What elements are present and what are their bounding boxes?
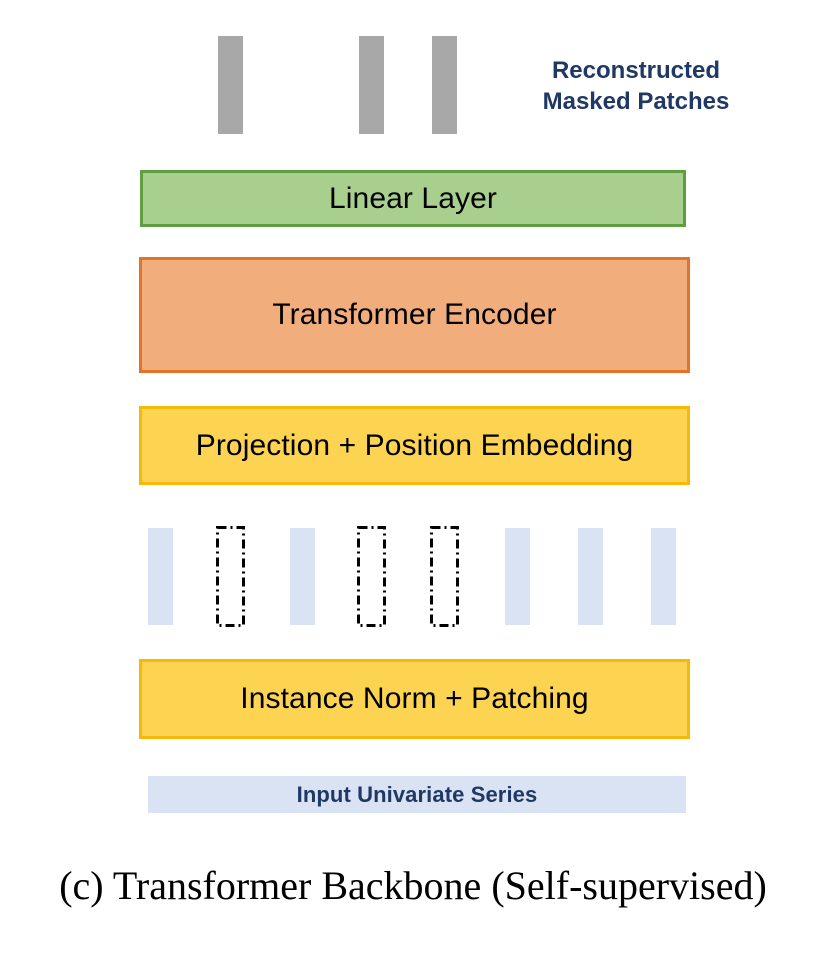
reconstructed-label-line2: Masked Patches xyxy=(536,86,736,117)
block-input-univariate-series-label: Input Univariate Series xyxy=(297,782,538,808)
block-transformer-encoder-label: Transformer Encoder xyxy=(272,298,556,332)
figure-caption-text: (c) Transformer Backbone (Self-supervise… xyxy=(59,863,767,908)
input-patch-7-visible xyxy=(651,528,676,625)
masked-patch-outline-icon xyxy=(357,526,386,627)
masked-patch-outline-icon xyxy=(216,526,245,627)
reconstructed-masked-patches-label: Reconstructed Masked Patches xyxy=(536,55,736,117)
block-input-univariate-series: Input Univariate Series xyxy=(148,776,686,813)
block-linear-layer-label: Linear Layer xyxy=(329,182,497,216)
output-patch-1 xyxy=(359,36,384,134)
figure-caption: (c) Transformer Backbone (Self-supervise… xyxy=(0,862,826,909)
block-transformer-encoder: Transformer Encoder xyxy=(139,257,690,373)
block-projection-position-embedding-label: Projection + Position Embedding xyxy=(196,429,634,463)
output-patch-2 xyxy=(432,36,457,134)
input-patch-0-visible xyxy=(148,528,173,625)
input-patch-3-masked xyxy=(357,526,386,627)
reconstructed-label-line1: Reconstructed xyxy=(536,55,736,86)
block-linear-layer: Linear Layer xyxy=(140,170,686,227)
input-patch-2-visible xyxy=(290,528,315,625)
input-patch-4-masked xyxy=(430,526,459,627)
block-projection-position-embedding: Projection + Position Embedding xyxy=(139,406,690,485)
transformer-backbone-figure: Reconstructed Masked Patches Linear Laye… xyxy=(0,0,826,964)
block-instance-norm-patching-label: Instance Norm + Patching xyxy=(240,682,588,716)
block-instance-norm-patching: Instance Norm + Patching xyxy=(139,659,690,739)
input-patch-1-masked xyxy=(216,526,245,627)
masked-patch-outline-icon xyxy=(430,526,459,627)
input-patch-6-visible xyxy=(578,528,603,625)
output-patch-0 xyxy=(218,36,243,134)
input-patch-5-visible xyxy=(505,528,530,625)
